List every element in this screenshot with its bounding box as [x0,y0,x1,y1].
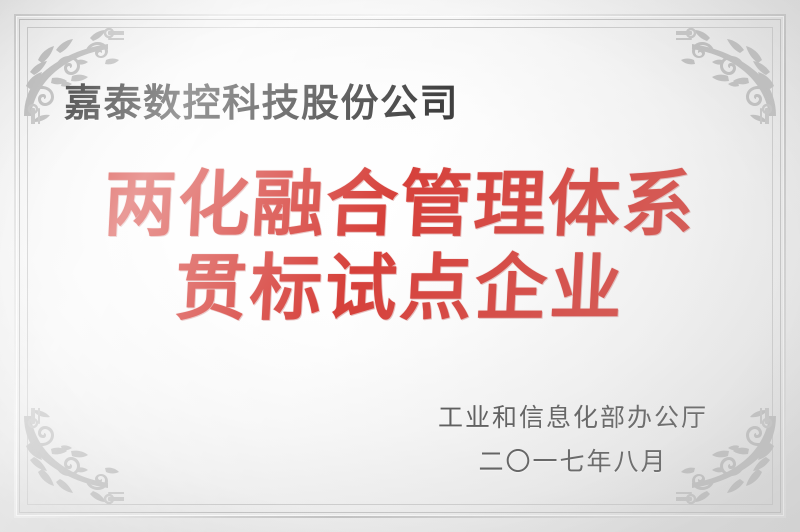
issue-date: 二〇一七年八月 [438,442,708,478]
award-title-line-1: 两化融合管理体系 [0,168,800,240]
award-title-block: 两化融合管理体系 贯标试点企业 [0,168,800,324]
company-name: 嘉泰数控科技股份公司 [64,72,459,127]
issuer-block: 工业和信息化部办公厅 二〇一七年八月 [438,398,708,478]
corner-ornament-bottom-left-icon [16,408,124,516]
award-title-line-2: 贯标试点企业 [0,252,800,324]
corner-ornament-top-right-icon [676,16,784,124]
award-plaque: 嘉泰数控科技股份公司 两化融合管理体系 贯标试点企业 工业和信息化部办公厅 二〇… [0,0,800,532]
issuing-authority: 工业和信息化部办公厅 [438,398,708,434]
